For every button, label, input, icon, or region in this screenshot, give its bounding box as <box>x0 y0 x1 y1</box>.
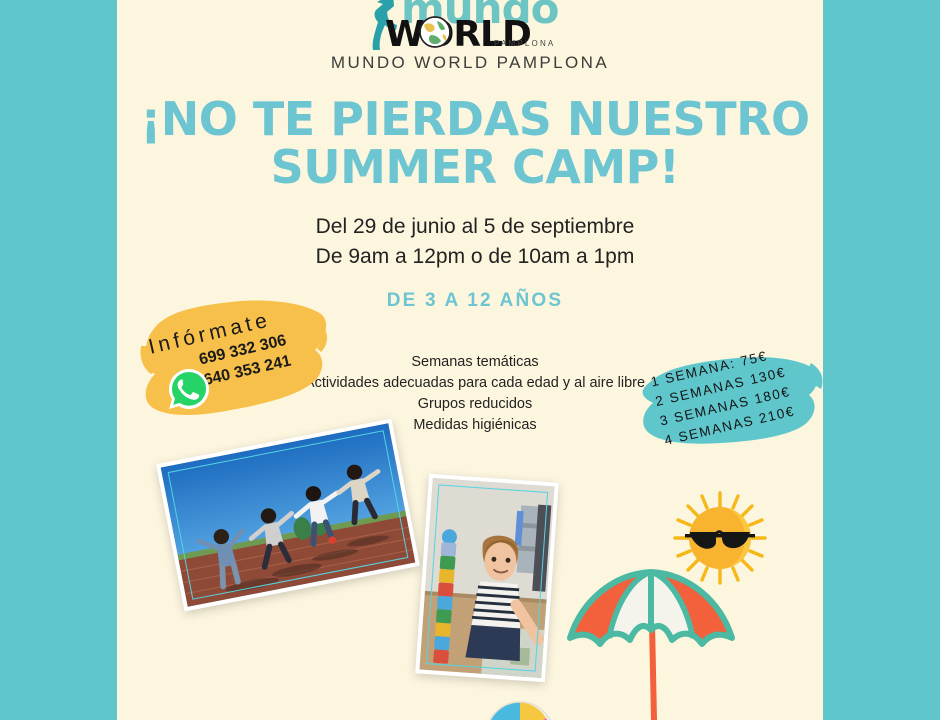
photo-children-jumping <box>156 418 420 611</box>
pricing-badge: 1 SEMANA: 75€ 2 SEMANAS 130€ 3 SEMANAS 1… <box>635 345 830 450</box>
logo-word-world: WORLD <box>385 14 531 55</box>
photo-boy-blocks <box>415 474 559 683</box>
dates-line-2: De 9am a 12pm o de 10am a 1pm <box>130 242 820 272</box>
logo-lockup: mundo WORLD PAMPLONA <box>355 0 585 54</box>
headline-line-2: SUMMER CAMP! <box>130 143 820 191</box>
headline-line-1: ¡NO TE PIERDAS NUESTRO <box>130 95 820 143</box>
beach-ball-icon <box>484 700 556 720</box>
right-teal-bar <box>823 0 940 720</box>
dates-block: Del 29 de junio al 5 de septiembre De 9a… <box>130 212 820 272</box>
globe-icon <box>419 16 451 48</box>
poster-canvas: mundo WORLD PAMPLONA MUNDO WORLD PAMPLON… <box>0 0 940 720</box>
informate-badge: Infórmate 699 332 306 640 353 241 <box>135 288 335 433</box>
whatsapp-icon[interactable] <box>167 367 211 411</box>
photo-children-jumping-image <box>161 423 416 607</box>
logo-word-pamplona: PAMPLONA <box>494 39 555 48</box>
beach-umbrella-icon <box>556 552 746 720</box>
brand-line: MUNDO WORLD PAMPLONA <box>0 53 940 73</box>
logo-block: mundo WORLD PAMPLONA <box>0 0 940 59</box>
photo-boy-blocks-image <box>419 478 554 678</box>
left-teal-bar <box>0 0 117 720</box>
page-title: ¡NO TE PIERDAS NUESTRO SUMMER CAMP! <box>130 95 820 191</box>
dates-line-1: Del 29 de junio al 5 de septiembre <box>130 212 820 242</box>
